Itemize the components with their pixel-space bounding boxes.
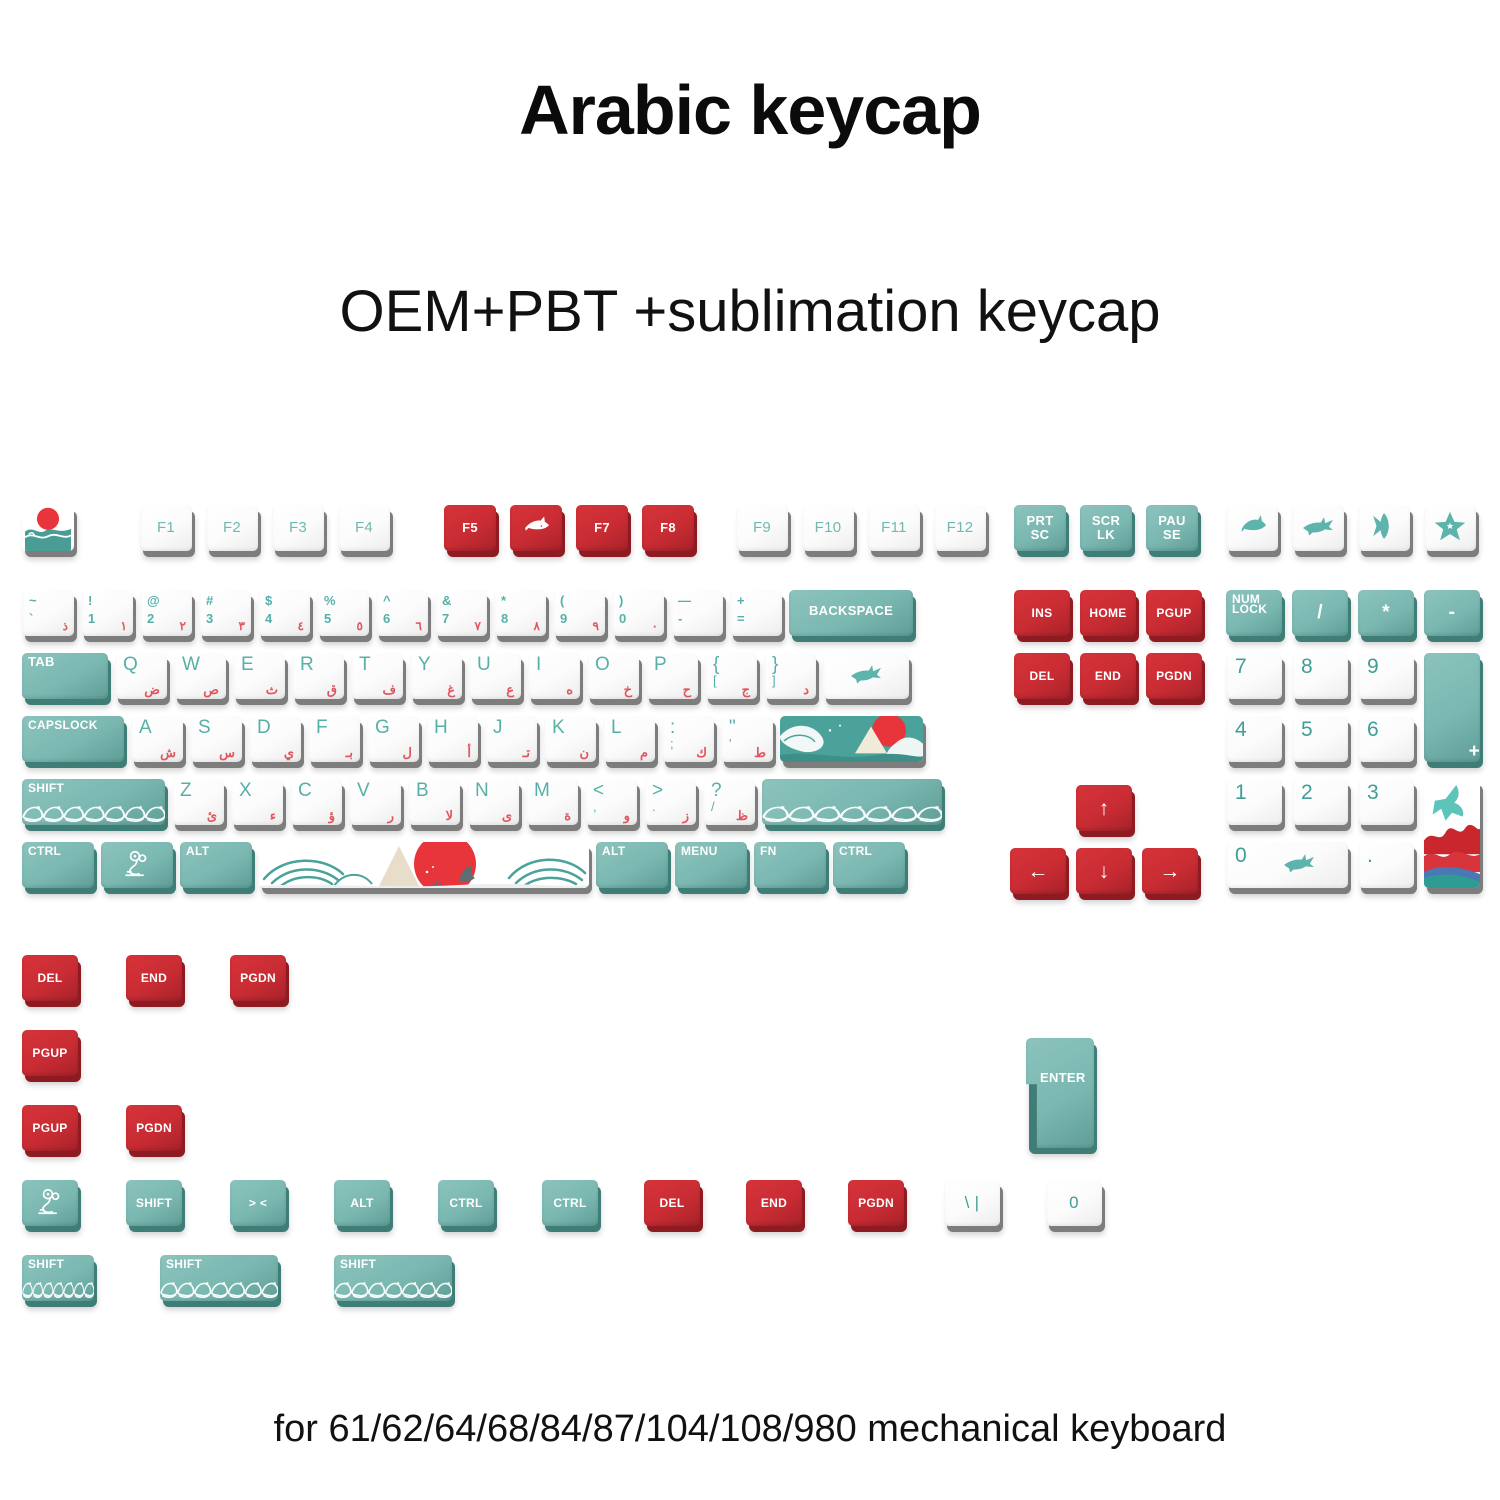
key-a[interactable]: Aش — [131, 716, 183, 762]
fnkey-f1[interactable]: F1 — [140, 505, 192, 551]
key-label: F10 — [815, 520, 842, 536]
legend-shifted: + — [737, 594, 745, 608]
legend-latin: { — [713, 655, 720, 675]
key->[interactable]: >.ز — [644, 779, 696, 825]
legend-arabic: ذ — [63, 620, 68, 633]
legend-arabic: ف — [383, 683, 396, 697]
key-numpad-2[interactable]: 2 — [1292, 779, 1348, 825]
legend-arabic: ٢ — [180, 620, 186, 633]
key-o[interactable]: Oخ — [587, 653, 639, 699]
key-numpad-+[interactable]: + — [1424, 653, 1480, 762]
legend-numpad: 7 — [1235, 656, 1247, 678]
key-del[interactable]: DEL — [1014, 653, 1070, 699]
legend-arabic: لا — [446, 809, 453, 823]
key-label: MENU — [681, 846, 718, 856]
extra-key-del[interactable]: DEL — [644, 1180, 700, 1226]
key-label: PGUP — [32, 1047, 67, 1060]
key-numpad-*[interactable]: * — [1358, 590, 1414, 636]
fnkey-f10[interactable]: F10 — [802, 505, 854, 551]
key-l[interactable]: Lم — [603, 716, 655, 762]
legend-arabic: خ — [624, 683, 632, 697]
key-label: PRTSC — [1027, 514, 1054, 541]
legend-arabic: ص — [203, 683, 219, 697]
legend-latin: W — [182, 655, 200, 675]
fnkey-fuji-sun-wave-icon[interactable] — [22, 505, 74, 551]
extra-key-pgup[interactable]: PGUP — [22, 1030, 78, 1076]
legend-arabic: س — [219, 746, 235, 760]
key-label: SCRLK — [1092, 514, 1120, 541]
extra-key-shift[interactable]: SHIFT — [334, 1255, 452, 1301]
key-label: ALT — [186, 846, 209, 856]
legend-arabic: أ — [467, 746, 471, 760]
key-label: 0 — [1069, 1194, 1079, 1212]
key-label: DEL — [660, 1197, 685, 1210]
key-label: CTRL — [839, 846, 872, 856]
legend-shifted: — — [678, 594, 691, 608]
key-label: PGUP — [32, 1122, 67, 1135]
key-s[interactable]: Sس — [190, 716, 242, 762]
key-pgup[interactable]: PGUP — [1146, 590, 1202, 636]
fnkey-salmon-fish-icon[interactable] — [1226, 505, 1278, 551]
key-ins[interactable]: INS — [1014, 590, 1070, 636]
legend-arabic: ل — [403, 746, 412, 760]
key-label: HOME — [1089, 607, 1126, 620]
bonsai-cloud-icon — [120, 846, 154, 880]
legend-base: 9 — [560, 612, 568, 633]
fnkey-angelfish-icon[interactable] — [1358, 505, 1410, 551]
legend-latin: > — [652, 781, 663, 801]
key-label: CAPSLOCK — [28, 720, 98, 730]
legend-arabic: م — [640, 746, 648, 760]
extra-key-end[interactable]: END — [746, 1180, 802, 1226]
legend-shifted: * — [501, 594, 506, 608]
key-shark-icon[interactable] — [823, 653, 909, 699]
key-label: ENTER — [1040, 1071, 1086, 1085]
key-label: + — [1469, 742, 1480, 762]
key-label: * — [1382, 603, 1390, 623]
legend-latin: < — [593, 781, 604, 801]
legend-arabic: ؤ — [329, 809, 335, 823]
key-1[interactable]: !1١ — [81, 590, 133, 636]
key-label: ALT — [350, 1197, 373, 1210]
key-shift[interactable]: SHIFT — [22, 779, 165, 825]
arrow-up-key[interactable]: ↑ — [1076, 785, 1132, 831]
legend-numpad: 5 — [1301, 719, 1313, 741]
legend-latin: Q — [123, 655, 138, 675]
key-label: PGUP — [1156, 607, 1191, 620]
key-`[interactable]: ~`ذ — [22, 590, 74, 636]
key-0[interactable]: )0٠ — [612, 590, 664, 636]
arrow-right-key[interactable]: → — [1142, 848, 1198, 894]
key-label: END — [761, 1197, 787, 1210]
legend-latin: S — [198, 718, 211, 738]
fnkey-f7[interactable]: F7 — [576, 505, 628, 551]
extra-key-shift[interactable]: SHIFT — [22, 1255, 94, 1301]
key-label: PGDN — [240, 972, 276, 985]
legend-latin: : — [670, 718, 676, 738]
keycap-layout-stage: F1F2F3F4F5F7F8F9F10F11F12PRTSCSCRLKPAUSE… — [0, 0, 1500, 1500]
arrow-left-key[interactable]: ← — [1010, 848, 1066, 894]
key-label: SHIFT — [340, 1259, 376, 1269]
fnkey-koi-fish-icon[interactable] — [510, 505, 562, 551]
extra-key-pgdn[interactable]: PGDN — [848, 1180, 904, 1226]
key-6[interactable]: ^6٦ — [376, 590, 428, 636]
legend-base: [ — [713, 674, 717, 688]
key-great-wave-spacebar-icon[interactable] — [259, 842, 589, 888]
key-g[interactable]: Gل — [367, 716, 419, 762]
key-label: ALT — [602, 846, 625, 856]
key-"[interactable]: "'ط — [721, 716, 773, 762]
key-shift[interactable] — [762, 779, 942, 825]
key-numpad-numlock[interactable]: NUMLOCK — [1226, 590, 1282, 636]
key-v[interactable]: Vر — [349, 779, 401, 825]
legend-shifted: ~ — [29, 594, 37, 608]
key-y[interactable]: Yغ — [410, 653, 462, 699]
key-numpad-4[interactable]: 4 — [1226, 716, 1282, 762]
legend-latin: G — [375, 718, 390, 738]
great-wave-spacebar-icon — [259, 842, 589, 888]
legend-latin: T — [359, 655, 371, 675]
extra-key-ctrl[interactable]: CTRL — [438, 1180, 494, 1226]
key-3[interactable]: #3٣ — [199, 590, 251, 636]
legend-arabic: ى — [502, 809, 512, 823]
legend-arabic: ق — [327, 683, 337, 697]
legend-arabic: ع — [506, 683, 514, 697]
key-m[interactable]: Mة — [526, 779, 578, 825]
extra-key-0[interactable]: 0 — [1046, 1180, 1102, 1226]
key-label: PAUSE — [1158, 514, 1185, 541]
key-label: F11 — [881, 520, 907, 536]
coral-reef-icon — [1424, 779, 1480, 888]
legend-base: ; — [670, 737, 674, 751]
key-numpad-9[interactable]: 9 — [1358, 653, 1414, 699]
fnkey-f2[interactable]: F2 — [206, 505, 258, 551]
legend-base: 3 — [206, 612, 214, 633]
great-wave-fuji-icon — [780, 716, 923, 762]
key-numpad-5[interactable]: 5 — [1292, 716, 1348, 762]
key-w[interactable]: Wص — [174, 653, 226, 699]
fnkey-f5[interactable]: F5 — [444, 505, 496, 551]
legend-shifted: & — [442, 594, 452, 608]
legend-arabic: ر — [388, 809, 394, 823]
key-menu[interactable]: MENU — [675, 842, 747, 888]
wave-pattern-icon — [22, 796, 165, 825]
legend-arabic: تـ — [523, 746, 530, 760]
legend-latin: ? — [711, 781, 722, 801]
key-label: SHIFT — [28, 783, 64, 793]
key-7[interactable]: &7٧ — [435, 590, 487, 636]
key-label: PGDN — [1156, 670, 1192, 683]
key-label: CTRL — [553, 1197, 586, 1210]
key-label: F4 — [355, 520, 373, 536]
fnkey-pau-se[interactable]: PAUSE — [1146, 505, 1198, 551]
key-h[interactable]: Hأ — [426, 716, 478, 762]
key-label: F2 — [223, 520, 241, 536]
legend-numpad: 8 — [1301, 656, 1313, 678]
key-n[interactable]: Nى — [467, 779, 519, 825]
extra-key-end[interactable]: END — [126, 955, 182, 1001]
key-j[interactable]: Jتـ — [485, 716, 537, 762]
bonsai-cloud-icon — [33, 1184, 67, 1218]
key-label: F9 — [753, 520, 771, 536]
fnkey-f8[interactable]: F8 — [642, 505, 694, 551]
wave-pattern-icon — [334, 1272, 452, 1301]
key-fn[interactable]: FN — [754, 842, 826, 888]
legend-arabic: ٦ — [416, 620, 422, 633]
key-label: / — [1317, 603, 1323, 623]
key-u[interactable]: Uع — [469, 653, 521, 699]
legend-arabic: ٨ — [534, 620, 540, 633]
legend-base: 8 — [501, 612, 509, 633]
key-numpad--[interactable]: - — [1424, 590, 1480, 636]
legend-arabic: بـ — [346, 746, 353, 760]
legend-latin: N — [475, 781, 489, 801]
key-8[interactable]: *8٨ — [494, 590, 546, 636]
legend-arabic: ة — [564, 809, 571, 823]
legend-arabic: ي — [284, 746, 294, 760]
legend-arabic: ش — [160, 746, 176, 760]
legend-numpad: 1 — [1235, 782, 1247, 804]
shark-icon — [1282, 846, 1316, 880]
extra-key-backslash[interactable]: \ | — [944, 1180, 1000, 1226]
extra-key-shift[interactable]: SHIFT — [160, 1255, 278, 1301]
key-t[interactable]: Tف — [351, 653, 403, 699]
key-:[interactable]: :;ك — [662, 716, 714, 762]
legend-base: = — [737, 612, 745, 633]
legend-arabic: و — [624, 809, 630, 823]
key-label: F7 — [594, 521, 610, 535]
key-b[interactable]: Bلا — [408, 779, 460, 825]
legend-latin: P — [654, 655, 667, 675]
extra-key-del[interactable]: DEL — [22, 955, 78, 1001]
key-label: F8 — [660, 521, 676, 535]
key-numpad-enter-art[interactable] — [1424, 779, 1480, 888]
key-label: → — [1159, 861, 1180, 882]
legend-numpad: . — [1367, 845, 1373, 867]
legend-latin: O — [595, 655, 610, 675]
key-label: END — [1095, 670, 1121, 683]
legend-arabic: ك — [696, 746, 707, 760]
key-numpad-8[interactable]: 8 — [1292, 653, 1348, 699]
fnkey-shark-icon[interactable] — [1292, 505, 1344, 551]
key-label: SHIFT — [136, 1197, 172, 1210]
arrow-down-key[interactable]: ↓ — [1076, 848, 1132, 894]
legend-base: 2 — [147, 612, 155, 633]
legend-base: ] — [772, 674, 776, 688]
key-r[interactable]: Rق — [292, 653, 344, 699]
key-label: > < — [249, 1197, 267, 1210]
key-q[interactable]: Qض — [115, 653, 167, 699]
legend-latin: E — [241, 655, 254, 675]
key-numpad-0[interactable]: 0 — [1226, 842, 1348, 888]
legend-numpad: 0 — [1235, 845, 1247, 867]
legend-numpad: 4 — [1235, 719, 1247, 741]
legend-latin: L — [611, 718, 622, 738]
legend-arabic: ٥ — [357, 620, 363, 633]
legend-latin: " — [729, 718, 736, 738]
salmon-fish-icon — [1235, 509, 1269, 543]
legend-latin: R — [300, 655, 314, 675]
legend-arabic: ١ — [121, 620, 127, 633]
legend-base: ' — [729, 737, 732, 751]
key-x[interactable]: Xء — [231, 779, 283, 825]
legend-base: 1 — [88, 612, 96, 633]
key-numpad-7[interactable]: 7 — [1226, 653, 1282, 699]
legend-arabic: ء — [270, 809, 276, 823]
fuji-sun-wave-icon — [22, 505, 74, 551]
extra-key-pgdn[interactable]: PGDN — [230, 955, 286, 1001]
key-end[interactable]: END — [1080, 653, 1136, 699]
key-label: CTRL — [28, 846, 61, 856]
legend-numpad: 9 — [1367, 656, 1379, 678]
key-label: SHIFT — [166, 1259, 202, 1269]
legend-numpad: 3 — [1367, 782, 1379, 804]
legend-latin: M — [534, 781, 550, 801]
key-label: CTRL — [449, 1197, 482, 1210]
legend-arabic: ض — [144, 683, 160, 697]
legend-latin: K — [552, 718, 565, 738]
key-pgdn[interactable]: PGDN — [1146, 653, 1202, 699]
key-label: F5 — [462, 521, 478, 535]
angelfish-icon — [1367, 509, 1401, 543]
legend-arabic: ح — [683, 683, 691, 697]
key--[interactable]: —- — [671, 590, 723, 636]
legend-numpad: 2 — [1301, 782, 1313, 804]
legend-shifted: ( — [560, 594, 565, 608]
legend-arabic: ظ — [736, 809, 748, 823]
key-=[interactable]: += — [730, 590, 782, 636]
fnkey-scr-lk[interactable]: SCRLK — [1080, 505, 1132, 551]
key-label: ↓ — [1099, 861, 1110, 882]
wave-pattern-icon — [762, 796, 942, 825]
legend-latin: X — [239, 781, 252, 801]
legend-arabic: ئ — [207, 809, 217, 823]
legend-latin: J — [493, 718, 503, 738]
key-home[interactable]: HOME — [1080, 590, 1136, 636]
key-backspace[interactable]: BACKSPACE — [789, 590, 913, 636]
fnkey-f9[interactable]: F9 — [736, 505, 788, 551]
legend-latin: C — [298, 781, 312, 801]
key-label: END — [141, 972, 167, 985]
key-?[interactable]: ?/ظ — [703, 779, 755, 825]
legend-shifted: ! — [88, 594, 93, 608]
legend-arabic: ن — [579, 746, 589, 760]
key-label: INS — [1032, 607, 1053, 620]
legend-arabic: ٠ — [652, 620, 658, 633]
key-label: FN — [760, 846, 777, 856]
legend-base: 0 — [619, 612, 627, 633]
legend-shifted: $ — [265, 594, 273, 608]
key-k[interactable]: Kن — [544, 716, 596, 762]
legend-latin: H — [434, 718, 448, 738]
key-z[interactable]: Zئ — [172, 779, 224, 825]
fnkey-f12[interactable]: F12 — [934, 505, 986, 551]
key-numpad-3[interactable]: 3 — [1358, 779, 1414, 825]
key-c[interactable]: Cؤ — [290, 779, 342, 825]
key-bonsai-cloud-icon[interactable] — [101, 842, 173, 888]
fnkey-starfish-icon[interactable] — [1424, 505, 1476, 551]
key-label: F12 — [947, 520, 974, 536]
extra-key-alt[interactable]: ALT — [334, 1180, 390, 1226]
key-tab[interactable]: TAB — [22, 653, 108, 699]
legend-latin: Y — [418, 655, 431, 675]
key-label: \ | — [965, 1194, 980, 1212]
key-label: SHIFT — [28, 1259, 64, 1269]
legend-shifted: # — [206, 594, 214, 608]
key-label: - — [1449, 603, 1456, 623]
key-enter-art[interactable] — [780, 716, 923, 762]
extra-key-bonsai-cloud-icon[interactable] — [22, 1180, 78, 1226]
legend-base: 7 — [442, 612, 450, 633]
key-alt[interactable]: ALT — [180, 842, 252, 888]
legend-base: . — [652, 800, 656, 814]
key-5[interactable]: %5٥ — [317, 590, 369, 636]
legend-base: - — [678, 612, 683, 633]
fnkey-f3[interactable]: F3 — [272, 505, 324, 551]
legend-latin: B — [416, 781, 429, 801]
key-capslock[interactable]: CAPSLOCK — [22, 716, 124, 762]
legend-base: 6 — [383, 612, 391, 633]
legend-arabic: ٧ — [475, 620, 481, 633]
key-2[interactable]: @2٢ — [140, 590, 192, 636]
key-}[interactable]: }]د — [764, 653, 816, 699]
key-alt[interactable]: ALT — [596, 842, 668, 888]
legend-shifted: ) — [619, 594, 624, 608]
key-e[interactable]: Eث — [233, 653, 285, 699]
legend-arabic: ٣ — [239, 620, 245, 633]
fnkey-f11[interactable]: F11 — [868, 505, 920, 551]
key-<[interactable]: <,و — [585, 779, 637, 825]
fnkey-f4[interactable]: F4 — [338, 505, 390, 551]
key-numpad-/[interactable]: / — [1292, 590, 1348, 636]
key-label: DEL — [38, 972, 63, 985]
legend-shifted: ^ — [383, 594, 391, 608]
extra-key-shift[interactable]: SHIFT — [126, 1180, 182, 1226]
extra-key-pgdn[interactable]: PGDN — [126, 1105, 182, 1151]
shark-icon — [1301, 509, 1335, 543]
legend-latin: A — [139, 718, 152, 738]
legend-arabic: ط — [754, 746, 766, 760]
key-p[interactable]: Pح — [646, 653, 698, 699]
legend-latin: F — [316, 718, 328, 738]
key-ctrl[interactable]: CTRL — [833, 842, 905, 888]
key-9[interactable]: (9٩ — [553, 590, 605, 636]
koi-fish-icon — [519, 509, 553, 543]
extra-key-ctrl[interactable]: CTRL — [542, 1180, 598, 1226]
key-numpad-dot[interactable]: . — [1358, 842, 1414, 888]
key-d[interactable]: Dي — [249, 716, 301, 762]
legend-arabic: ٤ — [298, 620, 304, 633]
legend-arabic: غ — [447, 683, 455, 697]
legend-arabic: ج — [742, 683, 750, 697]
key-i[interactable]: Iه — [528, 653, 580, 699]
extra-key-pgup[interactable]: PGUP — [22, 1105, 78, 1151]
legend-base: / — [711, 800, 715, 814]
fnkey-prt-sc[interactable]: PRTSC — [1014, 505, 1066, 551]
legend-latin: I — [536, 655, 542, 675]
key-{[interactable]: {[ج — [705, 653, 757, 699]
legend-shifted: @ — [147, 594, 160, 608]
key-numpad-1[interactable]: 1 — [1226, 779, 1282, 825]
key-f[interactable]: Fبـ — [308, 716, 360, 762]
key-ctrl[interactable]: CTRL — [22, 842, 94, 888]
key-4[interactable]: $4٤ — [258, 590, 310, 636]
legend-base: 4 — [265, 612, 273, 633]
key-numpad-6[interactable]: 6 — [1358, 716, 1414, 762]
legend-numpad: 6 — [1367, 719, 1379, 741]
key-label: F3 — [289, 520, 307, 536]
extra-key-><[interactable]: > < — [230, 1180, 286, 1226]
